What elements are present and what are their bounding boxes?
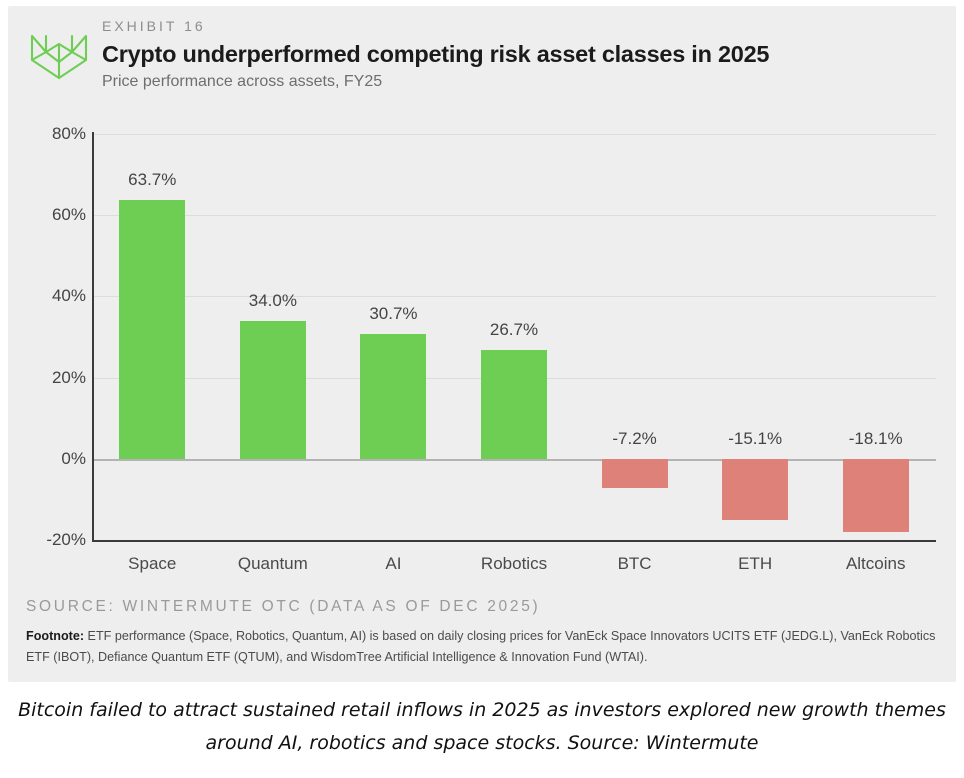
footnote-label: Footnote: [26,629,84,643]
bar-value-label: 30.7% [369,304,417,324]
chart-subtitle: Price performance across assets, FY25 [102,71,932,93]
caption-line-2: around AI, robotics and space stocks. So… [0,727,964,760]
gridline [92,296,936,297]
zero-baseline [92,459,936,461]
y-axis-tick-labels: 80%60%40%20%0%-20% [8,102,86,594]
footnote: Footnote: ETF performance (Space, Roboti… [26,626,942,668]
bar-robotics[interactable] [481,350,547,458]
x-axis-label-altcoins: Altcoins [846,554,906,574]
y-axis-tick: 40% [12,286,86,306]
bar-quantum[interactable] [240,321,306,459]
caption: Bitcoin failed to attract sustained reta… [0,694,964,760]
header-text-block: EXHIBIT 16 Crypto underperformed competi… [102,16,932,93]
x-axis-label-btc: BTC [618,554,652,574]
bar-altcoins[interactable] [843,459,909,532]
bar-value-label: 26.7% [490,320,538,340]
page-title: Crypto underperformed competing risk ass… [102,39,932,69]
x-axis-label-quantum: Quantum [238,554,308,574]
y-axis-tick: 20% [12,368,86,388]
wintermute-origami-logo-icon [24,30,94,82]
x-axis-label-ai: AI [385,554,401,574]
footnote-text: ETF performance (Space, Robotics, Quantu… [26,629,935,664]
bar-value-label: 63.7% [128,170,176,190]
caption-line-1: Bitcoin failed to attract sustained reta… [0,694,964,727]
bar-space[interactable] [119,200,185,459]
bar-ai[interactable] [360,334,426,459]
bar-eth[interactable] [722,459,788,520]
y-axis-tick: -20% [12,530,86,550]
bar-chart-plot: 80%60%40%20%0%-20% 63.7%34.0%30.7%26.7%-… [8,102,956,594]
chart-header: EXHIBIT 16 Crypto underperformed competi… [8,6,956,102]
exhibit-card: EXHIBIT 16 Crypto underperformed competi… [8,6,956,682]
bar-value-label: -7.2% [612,429,656,449]
x-axis-line [92,540,936,542]
bar-value-label: 34.0% [249,291,297,311]
bar-value-label: -15.1% [728,429,782,449]
bar-btc[interactable] [602,459,668,488]
y-axis-line [92,132,94,542]
x-axis-label-robotics: Robotics [481,554,547,574]
x-axis-label-space: Space [128,554,176,574]
y-axis-tick: 60% [12,205,86,225]
exhibit-number: EXHIBIT 16 [102,16,932,36]
gridline [92,134,936,135]
source-line: SOURCE: WINTERMUTE OTC (DATA AS OF DEC 2… [26,598,540,616]
x-axis-label-eth: ETH [738,554,772,574]
y-axis-tick: 80% [12,124,86,144]
gridline [92,215,936,216]
y-axis-tick: 0% [12,449,86,469]
bar-value-label: -18.1% [849,429,903,449]
